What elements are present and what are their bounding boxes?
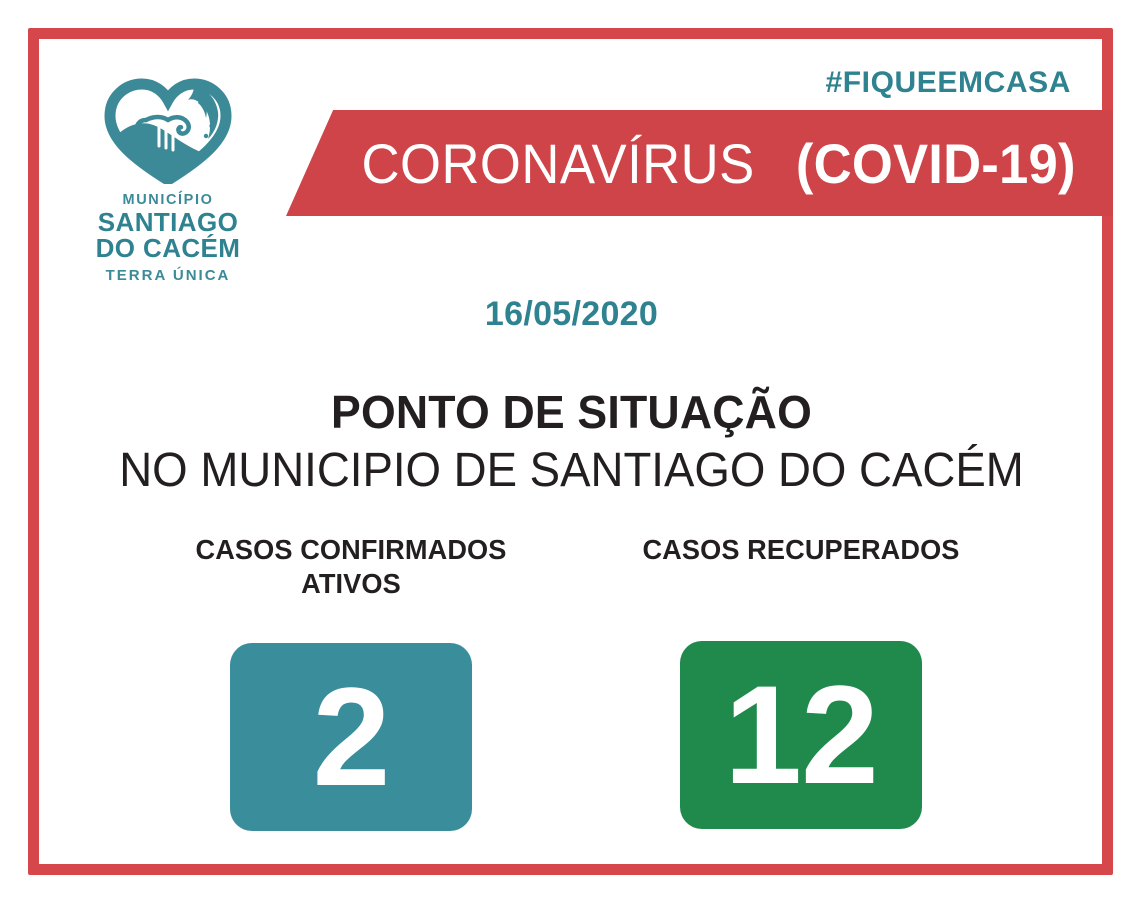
santiago-do-cacem-heart-wave-logo xyxy=(102,76,234,184)
stat-active-value-box: 2 xyxy=(230,643,472,831)
report-date: 16/05/2020 xyxy=(0,295,1143,334)
coronavirus-banner: CORONAVÍRUS (COVID-19) xyxy=(286,110,1113,216)
logo-line-santiago: SANTIAGO xyxy=(88,209,248,236)
stat-recovered-cases: CASOS RECUPERADOS 12 xyxy=(636,533,966,829)
stat-active-label-line2: ATIVOS xyxy=(191,567,511,601)
stat-active-cases: CASOS CONFIRMADOS ATIVOS 2 xyxy=(186,533,516,831)
stat-recovered-label-line1: CASOS RECUPERADOS xyxy=(641,533,961,567)
banner-title: CORONAVÍRUS (COVID-19) xyxy=(286,110,1113,216)
banner-title-coronavirus: CORONAVÍRUS xyxy=(361,131,754,196)
page-subtitle: NO MUNICIPIO DE SANTIAGO DO CACÉM xyxy=(29,443,1115,498)
municipality-logo: MUNICÍPIO SANTIAGO DO CACÉM TERRA ÚNICA xyxy=(88,76,248,284)
stat-active-label-line1: CASOS CONFIRMADOS xyxy=(191,533,511,567)
logo-line-terra-unica: TERRA ÚNICA xyxy=(88,267,248,284)
stat-recovered-value-box: 12 xyxy=(680,641,922,829)
banner-title-covid19: (COVID-19) xyxy=(796,131,1076,196)
logo-line-do-cacem: DO CACÉM xyxy=(88,235,248,262)
covid-status-poster: MUNICÍPIO SANTIAGO DO CACÉM TERRA ÚNICA … xyxy=(0,0,1143,911)
page-title: PONTO DE SITUAÇÃO xyxy=(17,385,1126,439)
hashtag-fique-em-casa: #FIQUEEMCASA xyxy=(825,66,1071,100)
